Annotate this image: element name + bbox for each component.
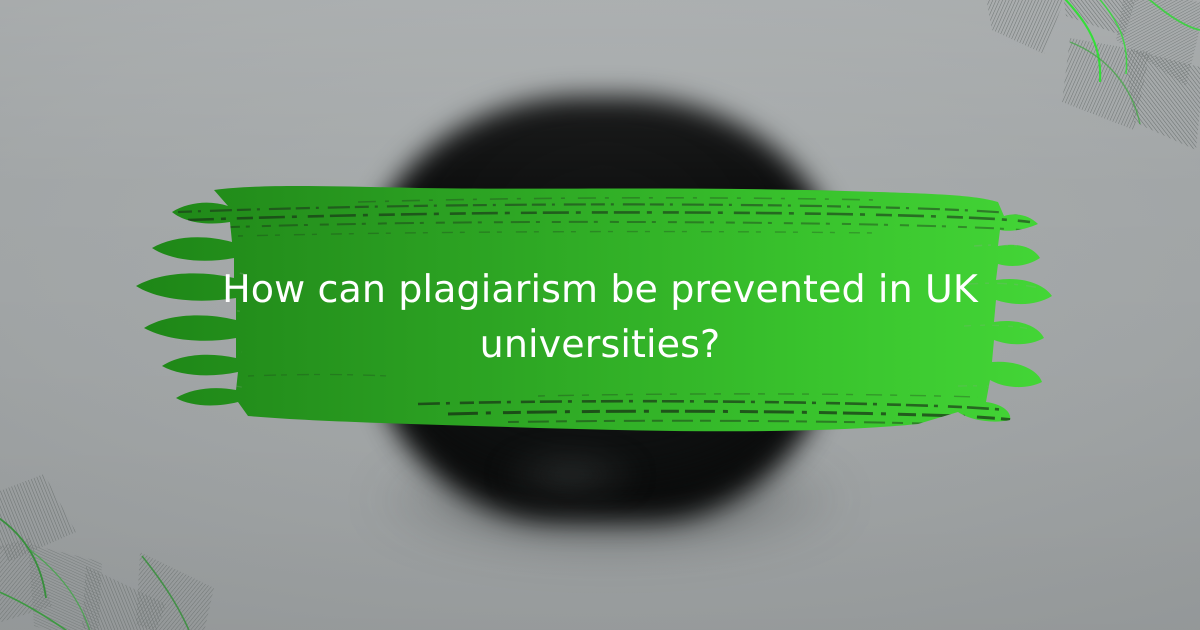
headline: How can plagiarism be prevented in UK un…	[190, 262, 1010, 372]
banner-canvas: How can plagiarism be prevented in UK un…	[0, 0, 1200, 630]
headline-line-2: universities?	[190, 317, 1010, 372]
headline-line-1: How can plagiarism be prevented in UK	[190, 262, 1010, 317]
